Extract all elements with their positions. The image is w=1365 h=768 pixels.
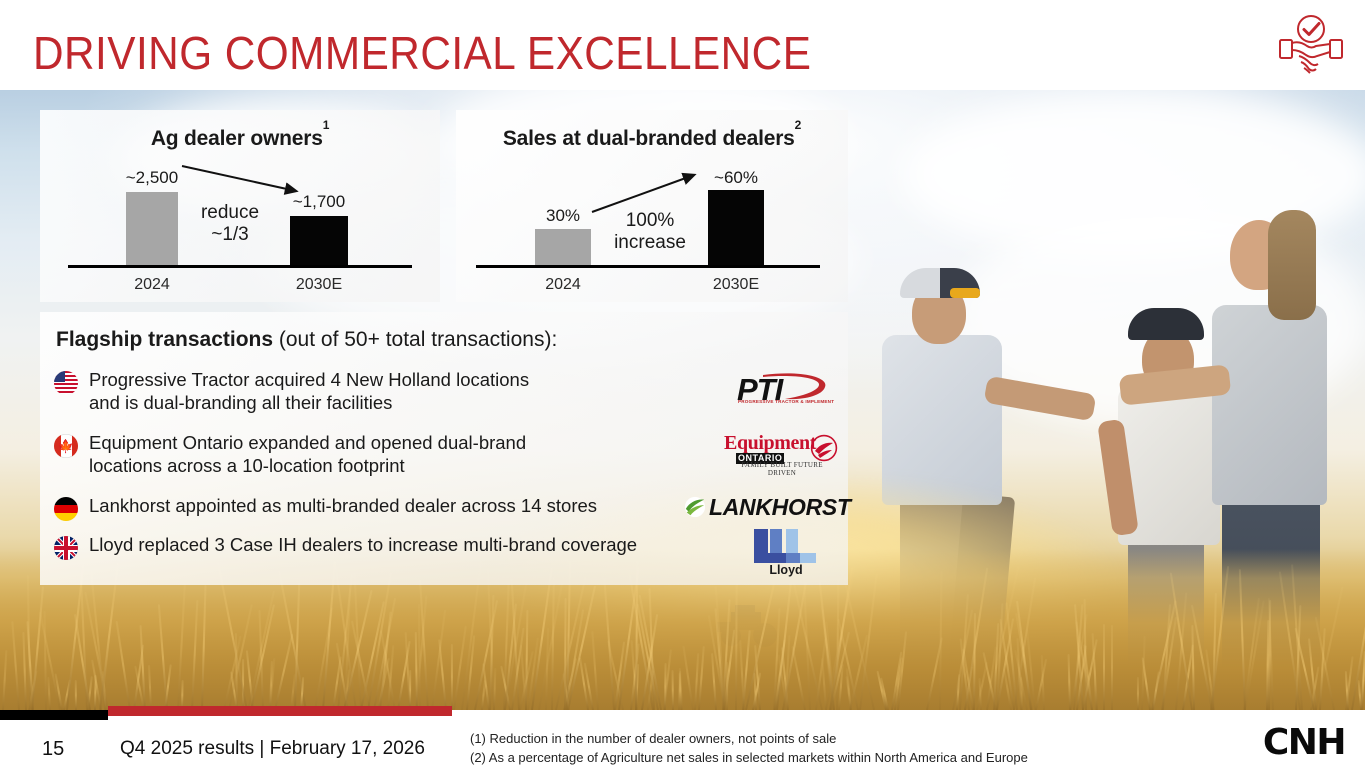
slide-root: DRIVING COMMERCIAL EXCELLENCE Ag dealer … <box>0 0 1365 768</box>
germany-flag-icon <box>54 497 78 521</box>
lloyd-triple-l-icon <box>748 527 824 565</box>
lankhorst-wordmark: LANKHORST <box>709 496 851 519</box>
equipment-ontario-tagline: FAMILY BUILT FUTURE DRIVEN <box>722 461 842 477</box>
bar-category-2024: 2024 <box>102 276 202 294</box>
trend-arrow-down <box>180 162 310 202</box>
list-item-lloyd[interactable]: Lloyd replaced 3 Case IH dealers to incr… <box>54 534 637 560</box>
chart-annotation: 100% increase <box>590 210 710 253</box>
bar-2030e <box>290 216 348 265</box>
cnh-logo: CNH <box>1263 722 1345 763</box>
chart-title-text: Sales at dual-branded dealers <box>503 127 795 150</box>
annotation-line-1: 100% <box>590 210 710 232</box>
equipment-ontario-swirl-icon <box>810 434 838 462</box>
chart-title-superscript: 2 <box>795 118 801 132</box>
chart-title: Sales at dual-branded dealers2 <box>456 126 848 151</box>
flagship-heading-bold: Flagship transactions <box>56 328 273 351</box>
page-number: 15 <box>42 738 64 761</box>
bar-2024 <box>535 229 591 265</box>
flagship-heading-rest: (out of 50+ total transactions): <box>273 328 557 351</box>
list-item-equipment-ontario[interactable]: 🍁 Equipment Ontario expanded and opened … <box>54 432 526 478</box>
deck-label: Q4 2025 results | February 17, 2026 <box>120 738 425 760</box>
chart-card-ag-dealer-owners: Ag dealer owners1 ~2,500 ~1,700 2024 203… <box>40 110 440 302</box>
canada-flag-icon: 🍁 <box>54 434 78 458</box>
list-item-label: Equipment Ontario expanded and opened du… <box>89 432 526 478</box>
annotation-line-2: increase <box>590 232 710 254</box>
bar-category-2030e: 2030E <box>686 276 786 294</box>
flagship-heading: Flagship transactions (out of 50+ total … <box>56 328 557 352</box>
annotation-line-1: reduce <box>170 202 290 224</box>
chart-title: Ag dealer owners1 <box>40 126 440 151</box>
chart-annotation: reduce ~1/3 <box>170 202 290 245</box>
list-item-progressive-tractor[interactable]: Progressive Tractor acquired 4 New Holla… <box>54 369 529 415</box>
footer-red-rule <box>108 706 452 716</box>
pti-logo: PTI PROGRESSIVE TRACTOR & IMPLEMENT <box>733 371 833 407</box>
hair-shape <box>1268 210 1316 320</box>
equipment-ontario-logo: Equipment ONTARIO FAMILY BUILT FUTURE DR… <box>722 433 842 475</box>
us-flag-icon <box>54 371 78 395</box>
list-item-label: Progressive Tractor acquired 4 New Holla… <box>89 369 529 415</box>
chart-title-text: Ag dealer owners <box>151 127 323 150</box>
footer-black-rule <box>0 710 108 720</box>
chart-card-dual-branded-sales: Sales at dual-branded dealers2 30% ~60% … <box>456 110 848 302</box>
sunglasses-icon <box>950 288 980 298</box>
lankhorst-logo: LANKHORST <box>684 494 848 520</box>
footnote-1: (1) Reduction in the number of dealer ow… <box>470 731 836 746</box>
chart-axis-line <box>68 265 412 268</box>
lloyd-logo: Lloyd <box>748 527 824 579</box>
lloyd-wordmark: Lloyd <box>748 563 824 577</box>
slide-header: DRIVING COMMERCIAL EXCELLENCE <box>0 0 1365 90</box>
footnote-2: (2) As a percentage of Agriculture net s… <box>470 750 1028 765</box>
bar-category-2030e: 2030E <box>269 276 369 294</box>
chart-axis-line <box>476 265 820 268</box>
annotation-line-2: ~1/3 <box>170 224 290 246</box>
lankhorst-leaf-icon <box>684 496 706 518</box>
chart-title-superscript: 1 <box>323 118 329 132</box>
uk-flag-icon <box>54 536 78 560</box>
bar-category-2024: 2024 <box>513 276 613 294</box>
list-item-lankhorst[interactable]: Lankhorst appointed as multi-branded dea… <box>54 495 597 521</box>
page-title: DRIVING COMMERCIAL EXCELLENCE <box>33 26 811 80</box>
list-item-label: Lloyd replaced 3 Case IH dealers to incr… <box>89 534 637 557</box>
handshake-check-icon <box>1275 12 1347 82</box>
bar-2030e <box>708 190 764 265</box>
pti-tagline: PROGRESSIVE TRACTOR & IMPLEMENT <box>738 399 834 404</box>
slide-footer: 15 Q4 2025 results | February 17, 2026 (… <box>0 710 1365 768</box>
list-item-label: Lankhorst appointed as multi-branded dea… <box>89 495 597 518</box>
